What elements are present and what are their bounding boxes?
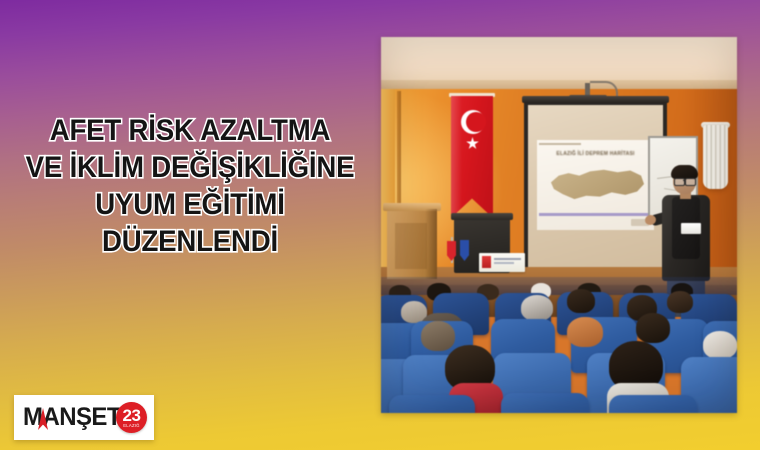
thumbnail-canvas: AFET RİSK AZALTMA VE İKLİM DEĞİŞİKLİĞİNE…: [0, 0, 760, 450]
news-photo: ELAZIĞ İLİ DEPREM HARİTASI: [381, 37, 737, 413]
slide-title: ELAZIĞ İLİ DEPREM HARİTASI: [537, 150, 654, 159]
audience-head: [703, 331, 737, 359]
headline-line-4: DÜZENLENDİ: [15, 223, 365, 260]
slide-top-accent: [539, 143, 581, 145]
radiator: [703, 125, 728, 189]
lectern-panel: [395, 223, 427, 269]
dark-table-top: [451, 213, 513, 220]
seat: [501, 393, 589, 413]
flag-crescent-inner: [466, 112, 486, 132]
logo-inner: MANŞET 23 ELAZIĞ: [21, 402, 147, 433]
slide-footer-bar: [539, 213, 652, 216]
audience-head: [567, 289, 595, 313]
audience-head: [667, 291, 693, 313]
headline-line-1: AFET RİSK AZALTMA: [15, 112, 365, 149]
podium-banner-mark: [482, 256, 491, 268]
audience-head: [521, 295, 553, 321]
presenter-glasses-right: [685, 178, 696, 186]
headline-line-2: VE İKLİM DEĞİŞİKLİĞİNE: [15, 149, 365, 186]
site-logo[interactable]: MANŞET 23 ELAZIĞ: [14, 395, 154, 440]
logo-badge-subtext: ELAZIĞ: [123, 423, 139, 428]
presenter-glasses-bridge: [683, 180, 686, 181]
seat: [389, 395, 475, 413]
presenter-hair: [671, 165, 698, 179]
wall-pipe: [397, 91, 401, 211]
podium-banner-line: [494, 262, 514, 264]
logo-badge-number: 23: [123, 409, 141, 423]
audience-head: [421, 321, 455, 351]
presenter-badge: [681, 223, 701, 234]
seat: [609, 395, 697, 413]
audience-seating: [381, 283, 737, 413]
logo-badge: 23 ELAZIĞ: [116, 402, 147, 433]
audience-head: [567, 317, 603, 347]
logo-wordmark: MANŞET: [23, 403, 121, 432]
flag-fold-highlight: [451, 96, 462, 218]
headline-line-3: UYUM EĞİTİMİ: [15, 186, 365, 223]
audience-head: [636, 313, 670, 343]
ceiling-beam: [381, 80, 737, 89]
screen-roller-case: [522, 96, 669, 103]
podium-banner-line: [494, 258, 521, 260]
headline: AFET RİSK AZALTMA VE İKLİM DEĞİŞİKLİĞİNE…: [0, 112, 380, 260]
lectern-shadow: [425, 209, 437, 279]
